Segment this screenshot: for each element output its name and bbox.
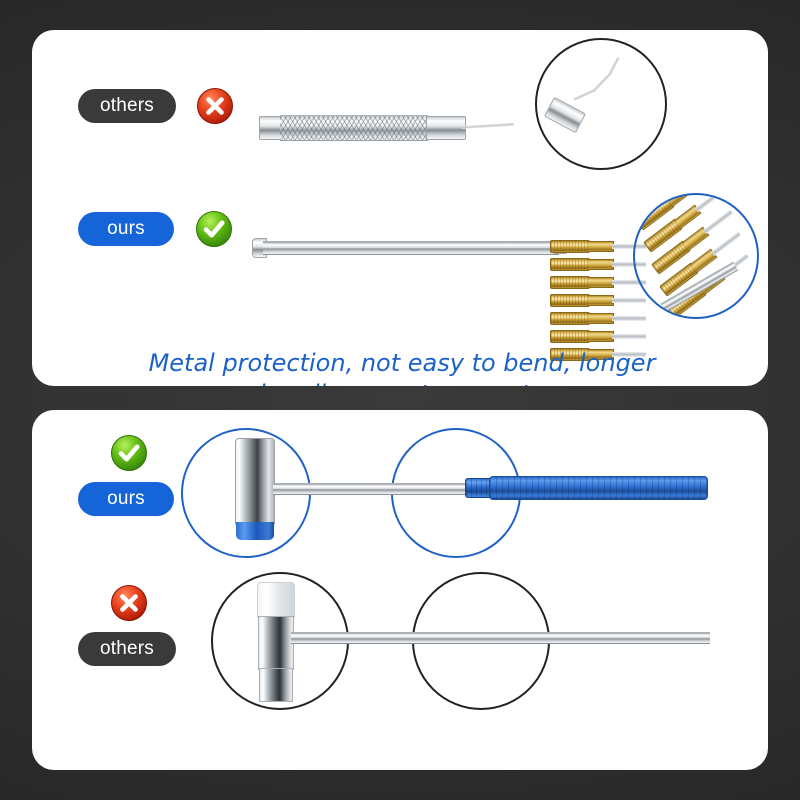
label-pill-others-hammer: others <box>78 632 176 666</box>
callout-circle-brass-pins <box>633 193 759 319</box>
check-icon <box>195 210 233 248</box>
caption-screwdriver: Metal protection, not easy to bend, long… <box>102 348 702 386</box>
label-pill-others-screwdriver: others <box>78 89 176 123</box>
label-text: others <box>100 638 154 660</box>
cross-icon <box>110 584 148 622</box>
cross-icon <box>196 87 234 125</box>
label-text: ours <box>107 488 145 510</box>
label-text: ours <box>107 218 145 240</box>
panel-hammer-comparison: ours <box>32 410 768 770</box>
check-icon <box>110 434 148 472</box>
label-pill-ours-screwdriver: ours <box>78 212 174 246</box>
panel-screwdriver-comparison: others <box>32 30 768 386</box>
label-text: others <box>100 95 154 117</box>
label-pill-ours-hammer: ours <box>78 482 174 516</box>
comparison-infographic: others <box>0 0 800 800</box>
